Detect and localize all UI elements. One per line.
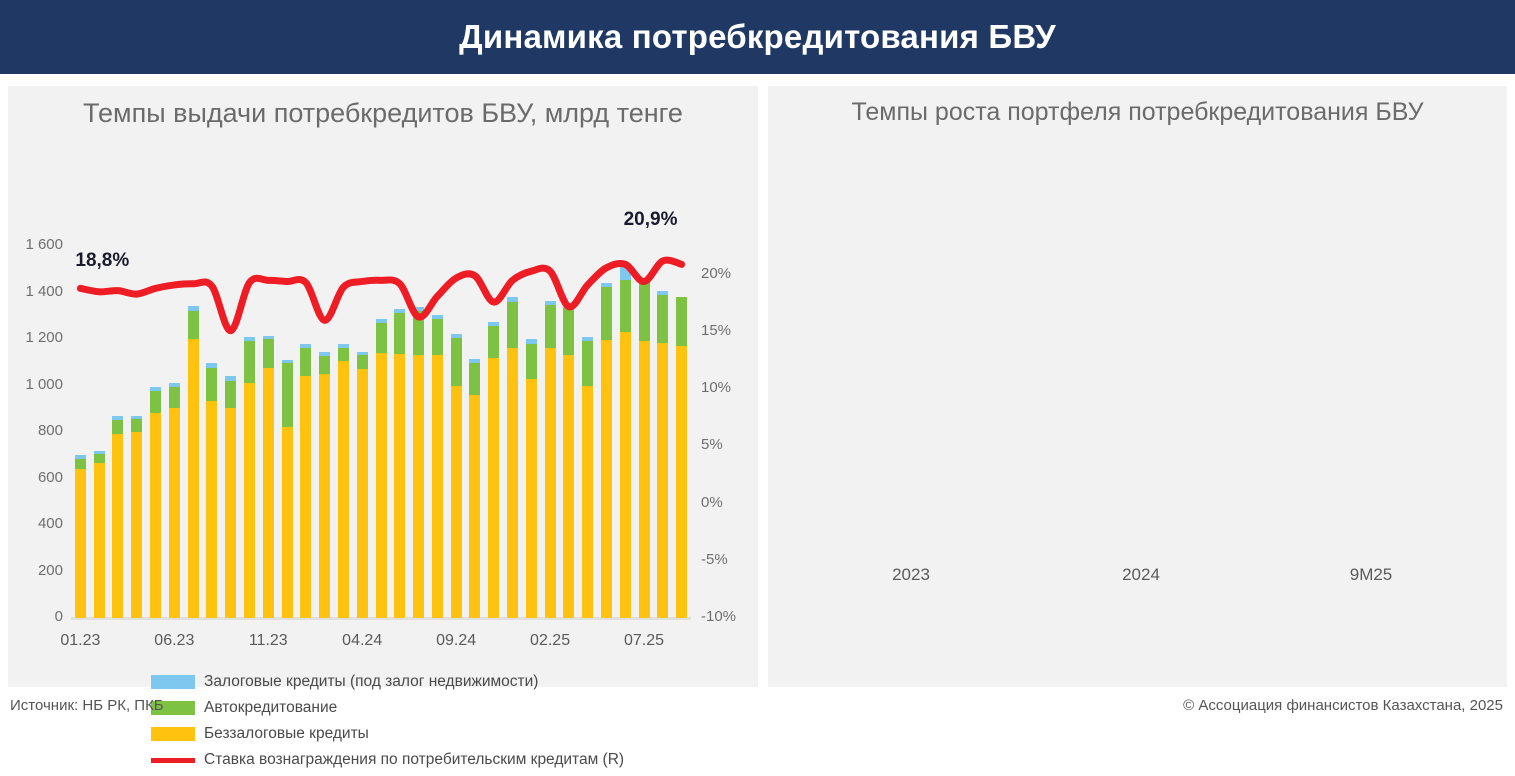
yellow-swatch-icon — [151, 727, 195, 741]
blue-swatch-icon — [151, 675, 195, 689]
rate-line — [71, 246, 691, 618]
left-y2-tick: 5% — [701, 436, 723, 453]
legend-item: Автокредитование — [151, 698, 624, 718]
left-y-tick: 400 — [11, 515, 63, 532]
right-chart-panel: Темпы роста портфеля потребкредитования … — [768, 86, 1507, 687]
left-y2-tick: -10% — [701, 608, 736, 625]
legend-item: Беззалоговые кредиты — [151, 724, 624, 744]
left-x-tick: 04.24 — [327, 632, 397, 650]
rate-end-label: 20,9% — [624, 209, 678, 231]
right-x-tick: 2024 — [1081, 565, 1201, 585]
left-y2-tick: 10% — [701, 379, 731, 396]
left-y-tick: 1 600 — [11, 236, 63, 253]
copyright-note: © Ассоциация финансистов Казахстана, 202… — [1183, 697, 1503, 714]
left-plot-area — [71, 246, 691, 618]
legend-label: Ставка вознаграждения по потребительским… — [204, 751, 624, 769]
source-note: Источник: НБ РК, ПКБ — [10, 697, 164, 714]
legend-label: Автокредитование — [204, 699, 337, 717]
left-y-tick: 800 — [11, 422, 63, 439]
left-y-tick: 1 400 — [11, 283, 63, 300]
left-x-tick: 06.23 — [139, 632, 209, 650]
left-y-tick: 1 200 — [11, 329, 63, 346]
left-x-tick: 07.25 — [609, 632, 679, 650]
left-x-tick: 11.23 — [233, 632, 303, 650]
left-chart-panel: Темпы выдачи потребкредитов БВУ, млрд те… — [8, 86, 758, 687]
legend-item: Ставка вознаграждения по потребительским… — [151, 750, 624, 770]
right-chart-title: Темпы роста портфеля потребкредитования … — [768, 98, 1507, 127]
legend-label: Залоговые кредиты (под залог недвижимост… — [204, 673, 538, 691]
legend-item: Залоговые кредиты (под залог недвижимост… — [151, 672, 624, 692]
red-line-swatch-icon — [151, 753, 195, 767]
page-title: Динамика потребкредитования БВУ — [459, 18, 1056, 56]
left-y2-tick: 0% — [701, 494, 723, 511]
legend-label: Беззалоговые кредиты — [204, 725, 369, 743]
page-header: Динамика потребкредитования БВУ — [0, 0, 1515, 74]
left-chart-legend: Залоговые кредиты (под залог недвижимост… — [151, 672, 624, 776]
left-chart-title: Темпы выдачи потребкредитов БВУ, млрд те… — [8, 98, 758, 129]
left-x-tick: 01.23 — [45, 632, 115, 650]
left-y2-tick: -5% — [701, 551, 728, 568]
left-x-tick: 09.24 — [421, 632, 491, 650]
left-y-tick: 0 — [11, 608, 63, 625]
left-y2-tick: 15% — [701, 322, 731, 339]
left-y-tick: 600 — [11, 469, 63, 486]
left-y2-tick: 20% — [701, 265, 731, 282]
left-y-tick: 200 — [11, 562, 63, 579]
left-x-tick: 02.25 — [515, 632, 585, 650]
right-x-tick: 9M25 — [1311, 565, 1431, 585]
rate-start-label: 18,8% — [75, 250, 129, 272]
right-x-tick: 2023 — [851, 565, 971, 585]
left-y-tick: 1 000 — [11, 376, 63, 393]
